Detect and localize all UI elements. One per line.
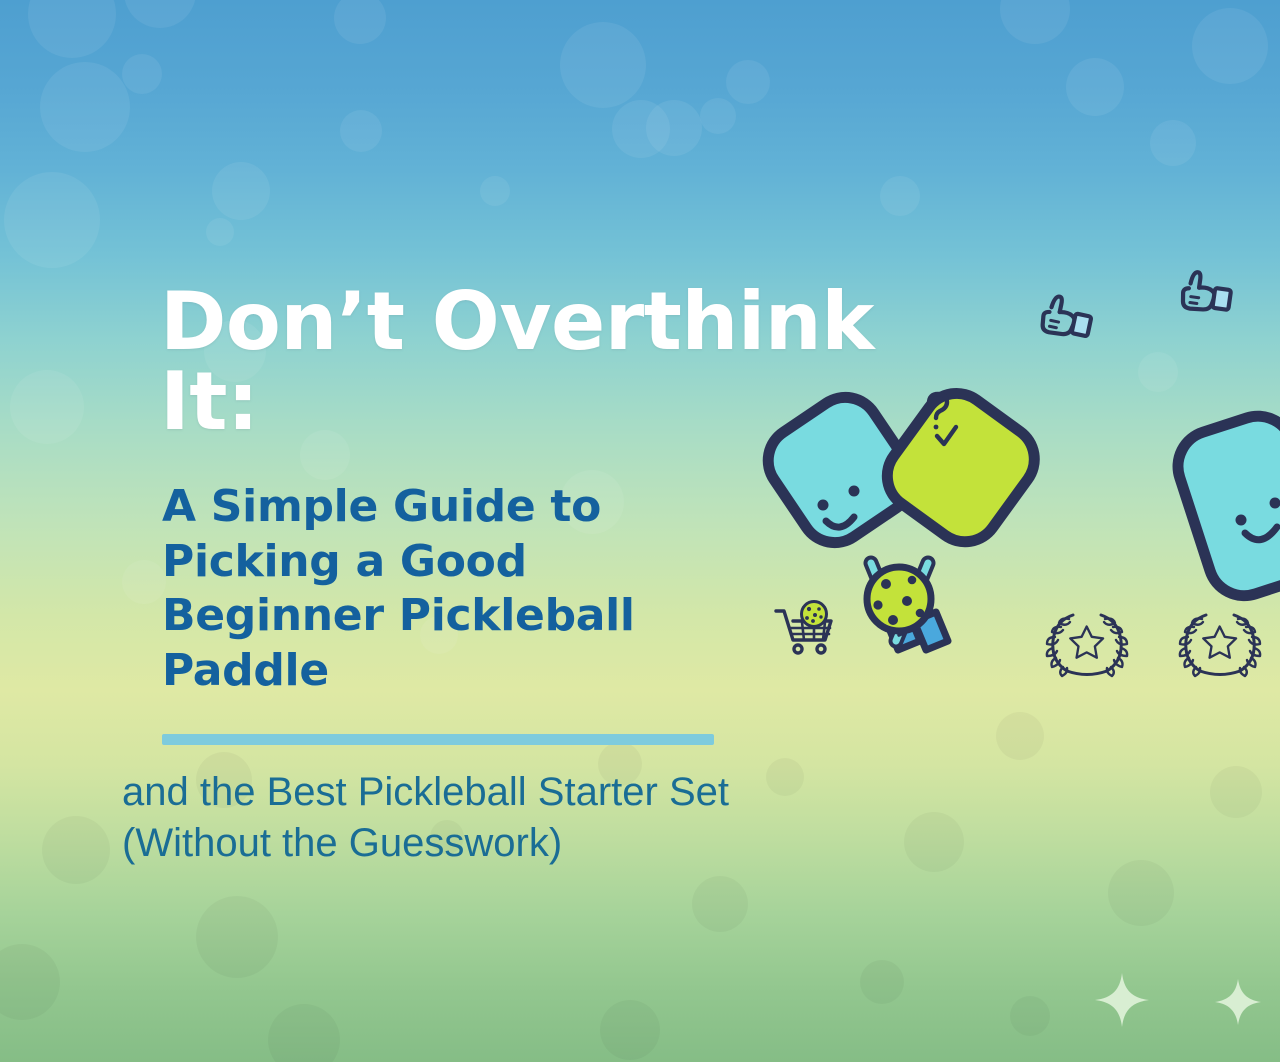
background-bubble bbox=[10, 370, 84, 444]
background-bubble bbox=[860, 960, 904, 1004]
headline-group: Don’t Overthink It: A Simple Guide to Pi… bbox=[160, 282, 920, 870]
background-bubble bbox=[1138, 352, 1178, 392]
background-bubble bbox=[996, 712, 1044, 760]
background-bubble bbox=[4, 172, 100, 268]
background-bubble bbox=[880, 176, 920, 216]
background-bubble bbox=[268, 1004, 340, 1062]
background-bubble bbox=[196, 896, 278, 978]
background-bubble bbox=[1210, 766, 1262, 818]
background-bubble bbox=[1108, 860, 1174, 926]
background-bubble bbox=[206, 218, 234, 246]
background-bubble bbox=[560, 22, 646, 108]
background-bubble bbox=[600, 1000, 660, 1060]
background-bubble bbox=[1000, 0, 1070, 44]
background-bubble bbox=[212, 162, 270, 220]
page-title: Don’t Overthink It: bbox=[160, 282, 920, 442]
poster-canvas: Don’t Overthink It: A Simple Guide to Pi… bbox=[0, 0, 1280, 1062]
background-bubble bbox=[42, 816, 110, 884]
laurel-wreath-star-icon bbox=[1043, 607, 1131, 677]
sparkle-icon bbox=[1094, 972, 1150, 1028]
background-bubble bbox=[124, 0, 196, 28]
background-bubble bbox=[28, 0, 116, 58]
thumbs-up-icon bbox=[1035, 295, 1101, 347]
background-bubble bbox=[692, 876, 748, 932]
background-bubble bbox=[40, 62, 130, 152]
question-mark-check-icon bbox=[920, 390, 966, 450]
laurel-wreath-star-icon bbox=[1176, 607, 1264, 677]
background-bubble bbox=[340, 110, 382, 152]
background-bubble bbox=[1010, 996, 1050, 1036]
background-bubble bbox=[646, 100, 702, 156]
thumbs-up-icon bbox=[1175, 270, 1241, 322]
background-bubble bbox=[1066, 58, 1124, 116]
background-bubble bbox=[1192, 8, 1268, 84]
background-bubble bbox=[334, 0, 386, 44]
paddle-blue-smiley-edge-icon bbox=[1185, 415, 1280, 605]
background-bubble bbox=[0, 944, 60, 1020]
subtitle: A Simple Guide to Picking a Good Beginne… bbox=[162, 480, 762, 698]
background-bubble bbox=[480, 176, 510, 206]
background-bubble bbox=[122, 54, 162, 94]
background-bubble bbox=[700, 98, 736, 134]
sparkle-icon bbox=[1214, 978, 1262, 1026]
background-bubble bbox=[1150, 120, 1196, 166]
tagline: and the Best Pickleball Starter Set (Wit… bbox=[122, 767, 822, 869]
background-bubble bbox=[612, 100, 670, 158]
divider bbox=[162, 734, 714, 745]
background-bubble bbox=[726, 60, 770, 104]
